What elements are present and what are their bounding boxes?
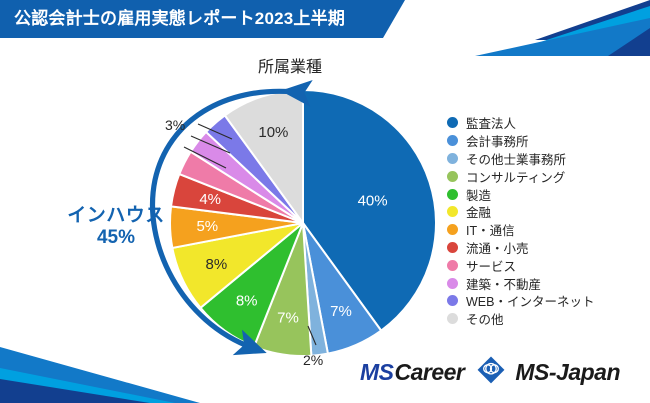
legend-item[interactable]: 監査法人 xyxy=(447,114,594,132)
pie-slice-value-label: 8% xyxy=(206,256,228,273)
ms-career-logo-ms: MS xyxy=(360,359,394,386)
slide-canvas: 公認会計士の雇用実態レポート2023上半期 所属業種 40%7%7%8%8%5%… xyxy=(0,0,650,403)
legend-item-label: コンサルティング xyxy=(466,167,565,186)
pie-slice-value-label: 10% xyxy=(258,124,288,141)
legend-color-swatch xyxy=(447,242,458,253)
legend-item-label: IT・通信 xyxy=(466,220,515,239)
legend-item-label: 金融 xyxy=(466,202,491,221)
legend-item-label: その他 xyxy=(466,309,504,328)
ms-japan-diamond-icon xyxy=(476,355,506,390)
pie-slice-value-label: 5% xyxy=(196,218,218,235)
legend-item[interactable]: 会計事務所 xyxy=(447,132,594,150)
legend-color-swatch xyxy=(447,117,458,128)
pie-slice-value-label: 7% xyxy=(330,303,352,320)
legend-item-label: その他士業事務所 xyxy=(466,149,566,168)
legend-item[interactable]: 建築・不動産 xyxy=(447,274,594,292)
legend-color-swatch xyxy=(447,224,458,235)
slice-callout-2pct: 2% xyxy=(303,352,323,368)
legend-item-label: サービス xyxy=(466,256,516,275)
legend-item-label: WEB・インターネット xyxy=(466,291,594,310)
legend-color-swatch xyxy=(447,260,458,271)
legend-item-label: 会計事務所 xyxy=(466,131,529,150)
legend-item[interactable]: 製造 xyxy=(447,185,594,203)
legend-color-swatch xyxy=(447,278,458,289)
slice-callout-3pct: 3% xyxy=(165,117,185,133)
legend-item[interactable]: 流通・小売 xyxy=(447,239,594,257)
legend-color-swatch xyxy=(447,206,458,217)
pie-chart: 40%7%7%8%8%5%4%10% xyxy=(168,88,438,358)
legend-item-label: 流通・小売 xyxy=(466,238,529,257)
ms-japan-logo-text: MS-Japan xyxy=(515,359,620,386)
legend-item[interactable]: サービス xyxy=(447,256,594,274)
legend-item-label: 製造 xyxy=(466,185,491,204)
inhouse-annotation-label: インハウス xyxy=(56,205,176,227)
legend-item[interactable]: 金融 xyxy=(447,203,594,221)
legend-item[interactable]: コンサルティング xyxy=(447,167,594,185)
footer-logos: MS Career MS-Japan xyxy=(360,355,620,389)
legend-item-label: 建築・不動産 xyxy=(466,274,541,293)
pie-slice-value-label: 40% xyxy=(358,192,388,209)
legend-item[interactable]: IT・通信 xyxy=(447,221,594,239)
pie-slice-value-label: 7% xyxy=(277,310,299,327)
legend-color-swatch xyxy=(447,313,458,324)
legend-color-swatch xyxy=(447,189,458,200)
legend-item[interactable]: WEB・インターネット xyxy=(447,292,594,310)
legend-item-label: 監査法人 xyxy=(466,113,516,132)
legend-color-swatch xyxy=(447,135,458,146)
page-title: 公認会計士の雇用実態レポート2023上半期 xyxy=(14,0,345,38)
inhouse-annotation-value: 45% xyxy=(56,227,176,249)
pie-slice-value-label: 8% xyxy=(236,293,258,310)
legend-color-swatch xyxy=(447,171,458,182)
ms-career-logo-career: Career xyxy=(395,359,465,386)
inhouse-annotation: インハウス 45% xyxy=(56,205,176,249)
legend-color-swatch xyxy=(447,153,458,164)
legend-color-swatch xyxy=(447,295,458,306)
legend-item[interactable]: その他 xyxy=(447,310,594,328)
legend-item[interactable]: その他士業事務所 xyxy=(447,150,594,168)
pie-slice-value-label: 4% xyxy=(199,191,221,208)
chart-title: 所属業種 xyxy=(258,53,322,77)
legend: 監査法人会計事務所その他士業事務所コンサルティング製造金融IT・通信流通・小売サ… xyxy=(447,114,594,328)
pie-chart-svg: 40%7%7%8%8%5%4%10% xyxy=(168,88,438,358)
